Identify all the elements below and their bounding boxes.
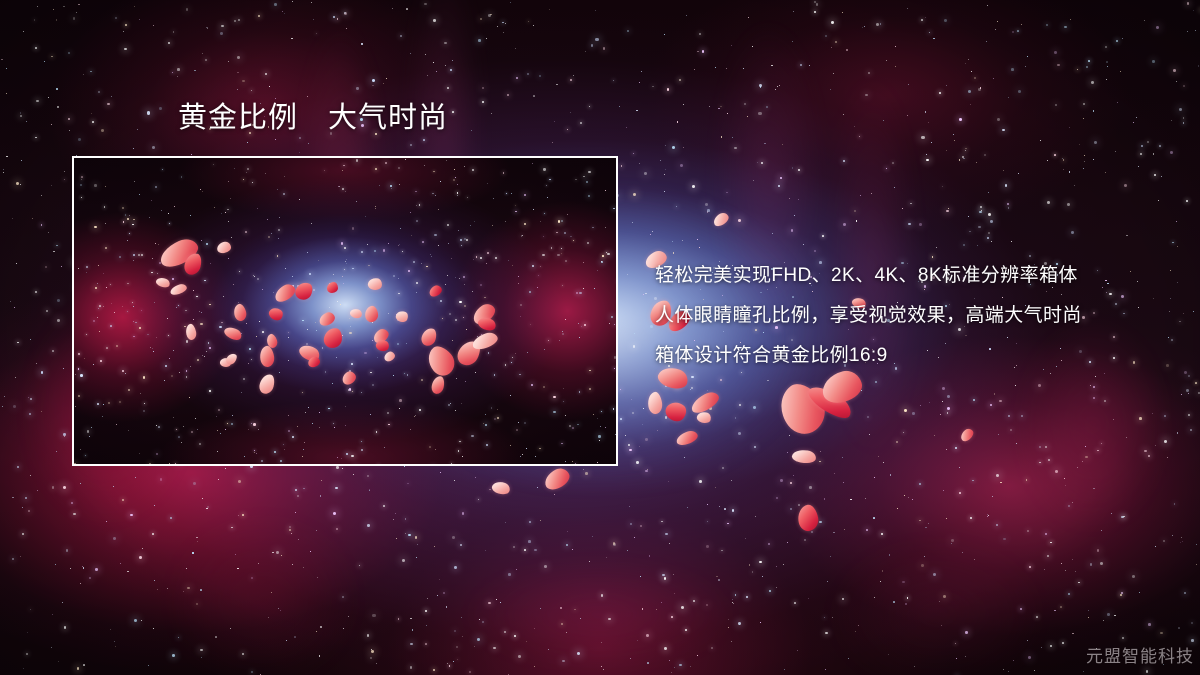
preview-image [74,158,616,464]
watermark-brand: 元盟智能科技 [1086,642,1194,667]
preview-image-frame[interactable] [72,156,618,466]
body-copy-line-1: 轻松完美实现FHD、2K、4K、8K标准分辨率箱体 [655,256,1195,296]
presentation-slide: 黄金比例 大气时尚 轻松完美实现FHD、2K、4K、8K标准分辨率箱体 人体眼睛… [0,0,1200,675]
body-copy-line-2: 人体眼睛瞳孔比例，享受视觉效果，高端大气时尚 [655,296,1195,336]
body-copy-block: 轻松完美实现FHD、2K、4K、8K标准分辨率箱体 人体眼睛瞳孔比例，享受视觉效… [655,256,1195,376]
preview-nebula-background [74,158,616,464]
page-title: 黄金比例 大气时尚 [178,100,448,136]
body-copy-line-3: 箱体设计符合黄金比例16:9 [655,336,1195,376]
